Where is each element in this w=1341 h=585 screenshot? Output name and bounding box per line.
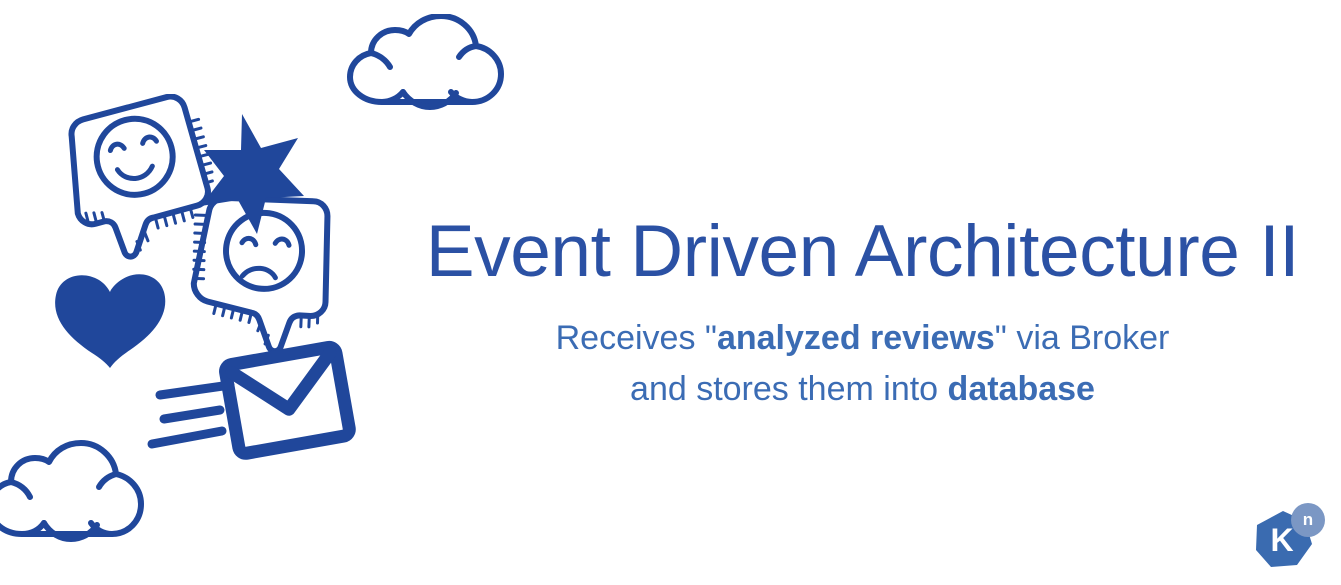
subtitle-line-1-before: Receives " xyxy=(556,319,717,357)
slide-subtitle: Receives "analyzed reviews" via Broker a… xyxy=(390,313,1335,416)
envelope-icon xyxy=(152,346,350,454)
subtitle-line-2: and stores them into database xyxy=(390,364,1335,416)
speech-bubble-frown-icon xyxy=(178,185,339,357)
feedback-doodle-illustration xyxy=(52,94,372,460)
subtitle-line-2-emphasis: database xyxy=(948,370,1095,408)
presentation-slide: Event Driven Architecture II Receives "a… xyxy=(0,0,1341,585)
logo-letter-n: n xyxy=(1291,503,1325,537)
speech-bubble-smile-icon xyxy=(62,94,223,264)
slide-text-block: Event Driven Architecture II Receives "a… xyxy=(390,214,1335,416)
cloud-outline-icon xyxy=(338,14,506,112)
brand-logo: K n xyxy=(1253,503,1329,575)
subtitle-line-1-emphasis: analyzed reviews xyxy=(717,319,995,357)
subtitle-line-1-after: " via Broker xyxy=(995,319,1170,357)
subtitle-line-2-before: and stores them into xyxy=(630,370,948,408)
cloud-outline-icon xyxy=(0,436,144,546)
heart-icon xyxy=(55,274,165,368)
logo-badge: n xyxy=(1291,503,1325,537)
speed-lines xyxy=(152,385,230,444)
page-title: Event Driven Architecture II xyxy=(390,214,1335,291)
star-icon xyxy=(201,114,304,234)
subtitle-line-1: Receives "analyzed reviews" via Broker xyxy=(390,313,1335,365)
